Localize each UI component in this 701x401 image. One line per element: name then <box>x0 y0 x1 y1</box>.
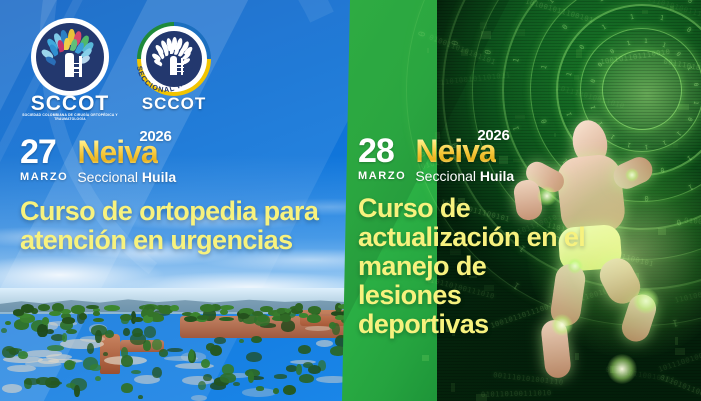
desert-bush <box>246 352 262 362</box>
desert-bush <box>274 374 287 378</box>
desert-bush <box>214 337 226 344</box>
treeline-shrub <box>38 304 50 311</box>
treeline-shrub <box>260 306 273 312</box>
desert-bush <box>1 328 7 333</box>
circuit-chip <box>670 6 673 10</box>
svg-text:SECCIONAL HUILA: SECCIONAL HUILA <box>135 65 195 94</box>
tree-leaf <box>44 56 56 66</box>
sccot-subtitle: SOCIEDAD COLOMBIANA DE CIRUGÍA ORTOPÉDIC… <box>14 113 126 122</box>
treeline-shrub <box>280 314 291 322</box>
desert-bush <box>66 329 77 334</box>
huila-sccot-wordmark: SCCOT <box>128 94 220 114</box>
treeline-shrub <box>147 309 154 317</box>
right-city-block: 2026 Neiva Seccional Huila <box>415 136 514 184</box>
binary-digit: 1 <box>629 13 635 22</box>
binary-digit: 1 <box>691 100 700 105</box>
desert-bush <box>95 376 101 381</box>
treeline-shrub <box>219 317 234 321</box>
treeline-shrub <box>197 315 209 320</box>
sand-patch <box>2 384 22 393</box>
desert-bush <box>296 364 302 374</box>
desert-bush <box>256 386 265 390</box>
right-month-name: MARZO <box>358 170 406 182</box>
desert-bush <box>144 326 156 338</box>
desert-bush <box>24 378 40 385</box>
desert-bush <box>152 367 162 378</box>
right-day-number: 28 <box>358 136 406 166</box>
treeline-shrub <box>307 314 321 323</box>
right-chapter-prefix: Seccional <box>415 168 480 184</box>
circuit-chip <box>422 355 429 362</box>
seccional-huila-ribbon: SECCIONAL HUILA <box>128 22 202 96</box>
event-poster: 0001110101011111111011101110101101101010… <box>0 0 701 401</box>
tatacoa-desert-photo <box>0 306 356 401</box>
desert-bush <box>203 374 212 381</box>
desert-bush <box>5 321 11 326</box>
left-date-block: 27 MARZO 2026 Neiva Seccional Huila <box>20 137 176 185</box>
treeline-shrub <box>104 305 119 311</box>
left-chapter-prefix: Seccional <box>77 169 142 185</box>
desert-bush <box>87 343 94 354</box>
desert-terrain-detail <box>0 306 356 401</box>
right-city-name: Neiva <box>415 136 495 166</box>
desert-bush <box>138 395 143 399</box>
right-date-daymonth: 28 MARZO <box>358 136 406 182</box>
desert-bush <box>18 351 28 359</box>
sand-patch <box>191 395 207 401</box>
desert-bush <box>220 373 237 383</box>
desert-bush <box>95 330 102 343</box>
desert-bush <box>90 364 102 370</box>
sand-patch <box>316 340 333 347</box>
tree-trunk <box>65 53 73 77</box>
desert-bush <box>239 339 244 343</box>
left-city-block: 2026 Neiva Seccional Huila <box>77 137 176 185</box>
tree-crutch-post <box>79 56 81 76</box>
desert-bush <box>74 385 79 397</box>
sccot-logo-disc <box>31 18 109 96</box>
treeline-shrub <box>277 308 285 314</box>
desert-bush <box>159 349 168 357</box>
desert-bush <box>283 385 296 395</box>
desert-bush <box>251 336 262 343</box>
left-month-name: MARZO <box>20 171 68 183</box>
treeline-shrub <box>335 315 345 320</box>
treeline-shrub <box>42 317 49 325</box>
treeline-shrub <box>21 304 34 313</box>
treeline-shrub <box>62 317 76 324</box>
circuit-chip <box>574 75 580 81</box>
right-date-block: 28 MARZO 2026 Neiva Seccional Huila <box>358 136 514 184</box>
desert-bush <box>131 370 141 374</box>
sccot-logo: SCCOT SOCIEDAD COLOMBIANA DE CIRUGÍA ORT… <box>18 18 122 122</box>
left-city-name: Neiva <box>77 137 157 167</box>
desert-bush <box>286 365 298 372</box>
desert-bush <box>62 333 68 342</box>
circuit-chip <box>476 394 487 401</box>
desert-bush <box>248 371 254 383</box>
circuit-chip <box>672 62 677 69</box>
desert-bush <box>121 383 133 393</box>
circuit-chip <box>576 49 582 58</box>
desert-bush <box>64 360 75 370</box>
left-date-daymonth: 27 MARZO <box>20 137 68 183</box>
right-chapter-name: Huila <box>480 168 514 184</box>
circuit-chip <box>515 29 525 35</box>
desert-bush <box>298 345 311 355</box>
desert-bush <box>121 355 133 367</box>
left-chapter-line: Seccional Huila <box>77 169 176 185</box>
desert-bush <box>123 328 129 336</box>
desert-bush <box>303 362 313 368</box>
treeline-shrub <box>86 305 98 309</box>
desert-bush <box>329 322 336 329</box>
desert-bush <box>198 381 206 390</box>
joint-glow <box>607 354 637 384</box>
treeline-shrub <box>93 318 104 322</box>
desert-bush <box>167 348 183 353</box>
desert-bush <box>37 324 47 337</box>
treeline-shrub <box>79 313 87 321</box>
treeline-shrub <box>93 311 100 316</box>
tree-icon <box>36 23 104 91</box>
treeline-shrub <box>170 305 178 311</box>
right-course-title: Curso de actualización en el manejo de l… <box>358 194 596 339</box>
desert-bush <box>299 374 313 383</box>
sccot-seccional-huila-logo: SECCIONAL HUILA SCCOT <box>128 22 220 118</box>
desert-bush <box>2 346 16 358</box>
desert-bush <box>233 382 240 386</box>
left-chapter-name: Huila <box>142 169 176 185</box>
treeline-shrub <box>133 317 144 322</box>
right-chapter-line: Seccional Huila <box>415 168 514 184</box>
treeline-shrub <box>49 311 60 316</box>
circuit-chip <box>451 383 455 392</box>
left-course-title: Curso de ortopedia para atención en urge… <box>20 197 320 255</box>
desert-bush <box>273 388 278 394</box>
desert-bush <box>152 339 162 350</box>
treeline-shrub <box>252 311 263 316</box>
circuit-chip <box>642 10 649 14</box>
desert-bush <box>47 345 64 351</box>
left-day-number: 27 <box>20 137 68 167</box>
